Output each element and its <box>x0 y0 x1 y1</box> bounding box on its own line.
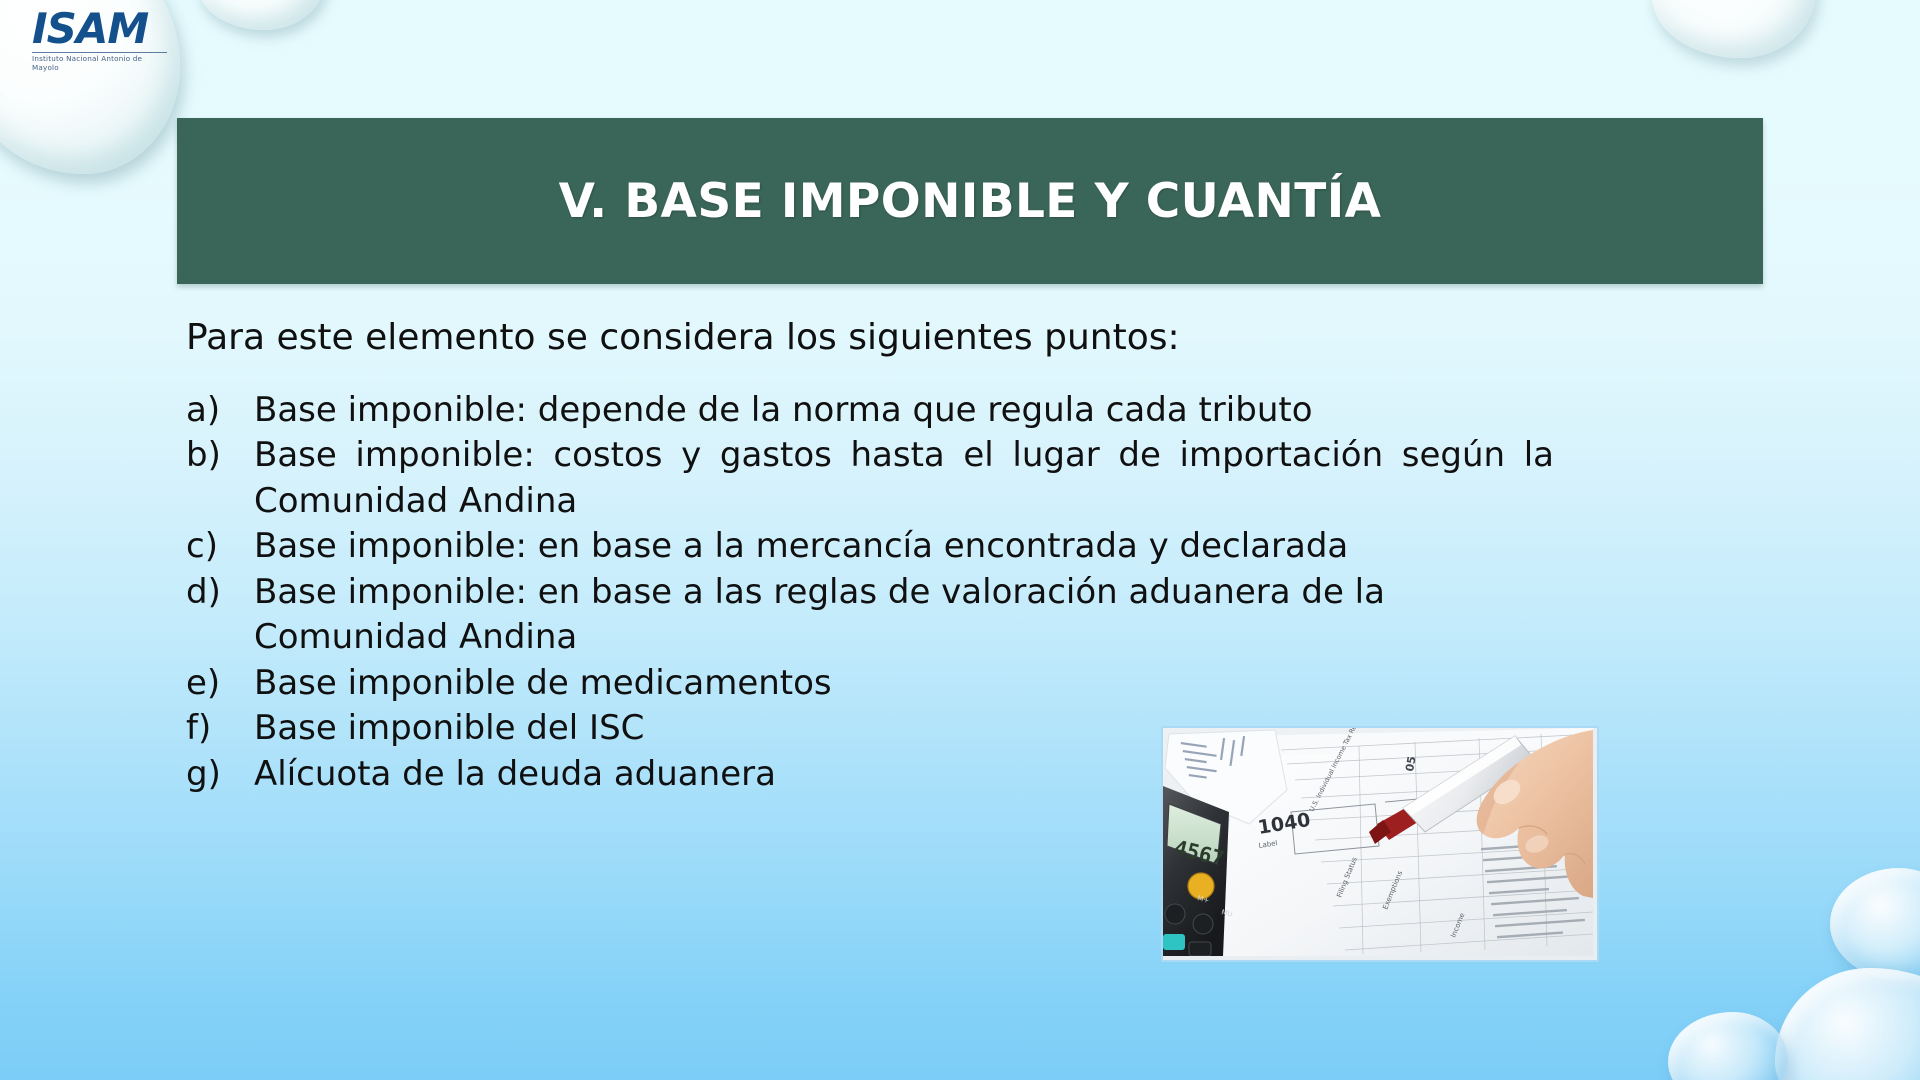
water-droplet-decoration-top-middle <box>198 0 326 30</box>
list-item-label: Base imponible: depende de la norma que … <box>254 388 1554 434</box>
list-item-label: Base imponible: costos y gastos hasta el… <box>254 433 1554 524</box>
water-droplet-decoration-bottom-right-large <box>1775 968 1920 1080</box>
isam-logo-subtitle: Instituto Nacional Antonio de Mayolo <box>32 52 167 72</box>
list-item-marker: c) <box>186 524 254 570</box>
list-item: b)Base imponible: costos y gastos hasta … <box>186 433 1766 524</box>
list-item-marker: e) <box>186 661 254 707</box>
page-title: V. BASE IMPONIBLE Y CUANTÍA <box>559 174 1382 229</box>
tax-form-photo: 1040 Label U.S. Individual Income Tax Re… <box>1161 726 1599 962</box>
isam-logo: ISAM Instituto Nacional Antonio de Mayol… <box>32 8 187 68</box>
list-item: d)Base imponible: en base a las reglas d… <box>186 570 1766 661</box>
slide-title-bar: V. BASE IMPONIBLE Y CUANTÍA <box>177 118 1763 284</box>
water-droplet-decoration-bottom-right-small <box>1830 868 1920 980</box>
list-item-marker: d) <box>186 570 254 616</box>
list-item-label: Base imponible: en base a las reglas de … <box>254 570 1554 661</box>
slide-canvas: ISAM Instituto Nacional Antonio de Mayol… <box>0 0 1920 1080</box>
form-year-text: 05 <box>1403 755 1418 772</box>
list-item-label: Base imponible: en base a la mercancía e… <box>254 524 1554 570</box>
list-item-marker: b) <box>186 433 254 479</box>
isam-logo-wordmark: ISAM <box>32 8 187 50</box>
list-item: c)Base imponible: en base a la mercancía… <box>186 524 1766 570</box>
list-item-marker: f) <box>186 706 254 752</box>
water-droplet-decoration-top-right <box>1652 0 1816 58</box>
water-droplet-decoration-bottom-right-tiny <box>1668 1012 1788 1080</box>
intro-paragraph: Para este elemento se considera los sigu… <box>186 318 1766 358</box>
list-item: e)Base imponible de medicamentos <box>186 661 1766 707</box>
tax-form-illustration: 1040 Label U.S. Individual Income Tax Re… <box>1163 728 1593 956</box>
list-item-label: Base imponible de medicamentos <box>254 661 1554 707</box>
list-item-marker: g) <box>186 752 254 798</box>
list-item-marker: a) <box>186 388 254 434</box>
list-item: a)Base imponible: depende de la norma qu… <box>186 388 1766 434</box>
